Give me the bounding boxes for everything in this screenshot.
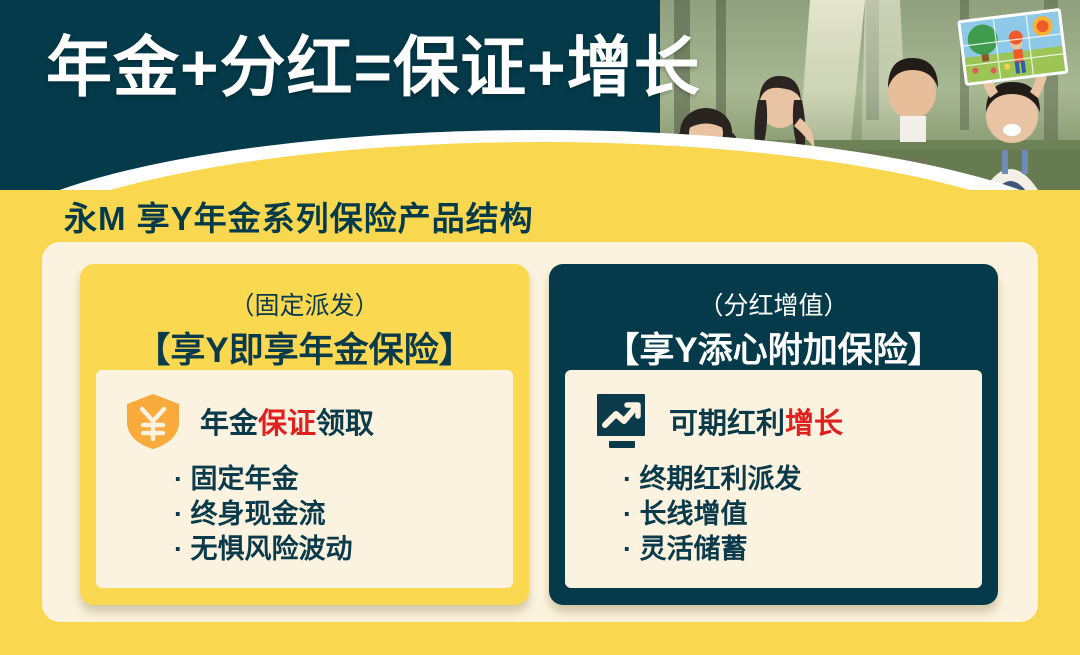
- feature-row: 可期红利增长: [593, 392, 843, 450]
- trend-chart-icon: [593, 392, 651, 450]
- feature-label: 年金保证领取: [200, 400, 374, 442]
- card-subtitle: （分红增值）: [549, 286, 998, 322]
- poster-root: 年金+分红=保证+增长 永M 享Y年金系列保险产品结构 （固定派发） 【享Y即享…: [0, 0, 1080, 655]
- list-item: 无惧风险波动: [174, 532, 353, 567]
- shield-yen-icon: [124, 392, 182, 450]
- feature-row: 年金保证领取: [124, 392, 374, 450]
- card-content-box: 年金保证领取 固定年金 终身现金流 无惧风险波动: [96, 370, 513, 588]
- card-subtitle: （固定派发）: [80, 286, 529, 322]
- list-item: 固定年金: [174, 462, 353, 497]
- child-drawing: [957, 8, 1068, 86]
- feature-text-after: 领取: [316, 408, 374, 440]
- benefit-list: 终期红利派发 长线增值 灵活储蓄: [623, 462, 802, 567]
- dividend-growth-card[interactable]: （分红增值） 【享Y添心附加保险】 可期红利增长 终期红利派发 长线增值 灵活储…: [549, 264, 998, 605]
- feature-text-before: 年金: [200, 408, 258, 440]
- list-item: 灵活储蓄: [623, 532, 802, 567]
- list-item: 终身现金流: [174, 497, 353, 532]
- card-content-box: 可期红利增长 终期红利派发 长线增值 灵活储蓄: [565, 370, 982, 588]
- page-title: 年金+分红=保证+增长: [46, 34, 701, 100]
- section-heading: 永M 享Y年金系列保险产品结构: [64, 192, 534, 240]
- benefit-list: 固定年金 终身现金流 无惧风险波动: [174, 462, 353, 567]
- feature-text-before: 可期红利: [669, 408, 785, 440]
- feature-text-highlight: 增长: [785, 408, 843, 440]
- feature-label: 可期红利增长: [669, 400, 843, 442]
- list-item: 长线增值: [623, 497, 802, 532]
- list-item: 终期红利派发: [623, 462, 802, 497]
- fixed-payout-card[interactable]: （固定派发） 【享Y即享年金保险】 年金: [80, 264, 529, 605]
- card-title: 【享Y添心附加保险】: [549, 322, 998, 373]
- card-title: 【享Y即享年金保险】: [80, 322, 529, 373]
- feature-text-highlight: 保证: [258, 408, 316, 440]
